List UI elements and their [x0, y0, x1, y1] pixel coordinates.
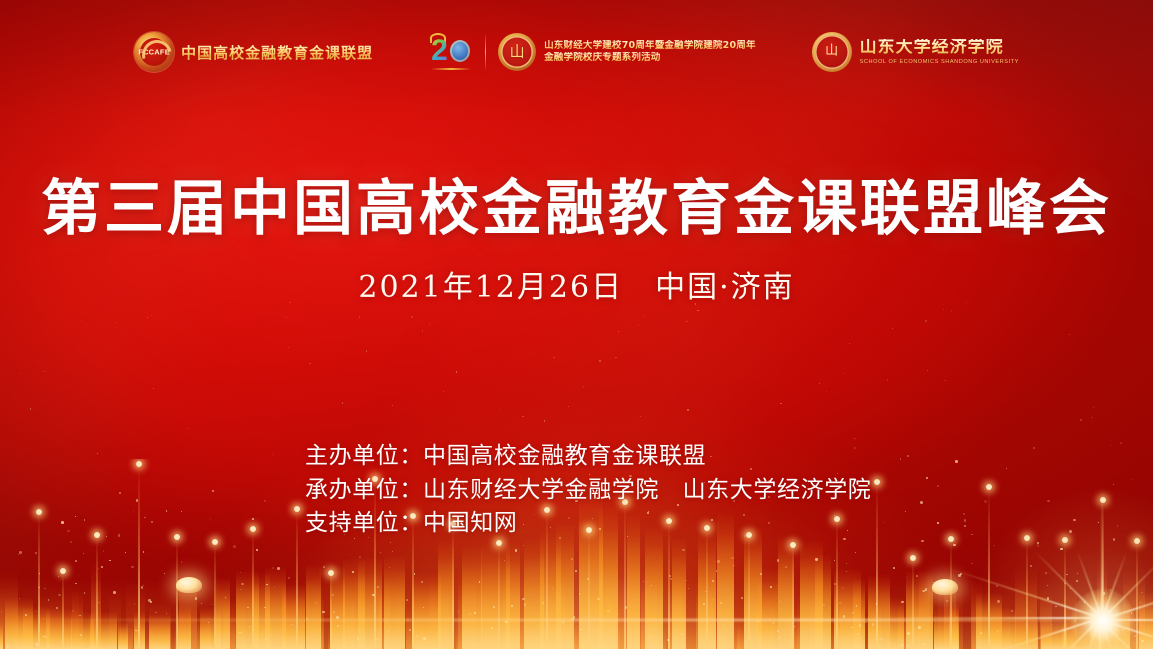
- sdu-name-en: SCHOOL OF ECONOMICS SHANDONG UNIVERSITY: [860, 59, 1019, 65]
- sdu-university-seal-icon: 山: [812, 32, 852, 72]
- conference-poster: FCCAFE 中国高校金融教育金课联盟 2 山 山东财经大学建校70周年暨金融学…: [0, 0, 1153, 649]
- organizer-line-host: 主办单位：中国高校金融教育金课联盟: [305, 440, 871, 474]
- anniversary-numeral: 2: [431, 36, 448, 66]
- sdu-seal-glyph: 山: [812, 44, 852, 57]
- logo-anniversary: 2 山 山东财经大学建校70周年暨金融学院建院20周年 金融学院校庆专题系列活动: [429, 32, 756, 72]
- fccafe-emblem-mark: FCCAFE: [134, 48, 174, 57]
- light-starburst: [1101, 619, 1105, 623]
- alliance-name-text: 中国高校金融教育金课联盟: [181, 42, 373, 63]
- sdufe-name-line2: 金融学院校庆专题系列活动: [544, 52, 756, 64]
- organizer-line-supporter: 支持单位：中国知网: [305, 507, 871, 541]
- sdu-name-block: 山东大学经济学院 SCHOOL OF ECONOMICS SHANDONG UN…: [860, 39, 1019, 65]
- logo-alliance: FCCAFE 中国高校金融教育金课联盟: [134, 32, 373, 72]
- logo-sdu-economics: 山 山东大学经济学院 SCHOOL OF ECONOMICS SHANDONG …: [812, 32, 1019, 72]
- sdufe-seal-glyph: 山: [498, 44, 536, 59]
- sdufe-name-line1: 山东财经大学建校70周年暨金融学院建院20周年: [544, 40, 756, 52]
- organizer-line-coorganizer: 承办单位：山东财经大学金融学院 山东大学经济学院: [305, 474, 871, 508]
- page-title: 第三届中国高校金融教育金课联盟峰会: [0, 160, 1153, 247]
- event-subtitle: 2021年12月26日 中国·济南: [0, 262, 1153, 306]
- sdufe-name-block: 山东财经大学建校70周年暨金融学院建院20周年 金融学院校庆专题系列活动: [544, 40, 756, 63]
- organizer-block: 主办单位：中国高校金融教育金课联盟 承办单位：山东财经大学金融学院 山东大学经济…: [305, 440, 871, 541]
- sdufe-university-seal-icon: 山: [498, 33, 536, 71]
- sdu-name-cn: 山东大学经济学院: [860, 39, 1019, 57]
- vertical-divider-icon: [485, 33, 486, 71]
- sponsor-logo-bar: FCCAFE 中国高校金融教育金课联盟 2 山 山东财经大学建校70周年暨金融学…: [0, 32, 1153, 72]
- anniversary-20-emblem-icon: 2: [429, 32, 473, 72]
- fccafe-ring-emblem-icon: FCCAFE: [134, 32, 174, 72]
